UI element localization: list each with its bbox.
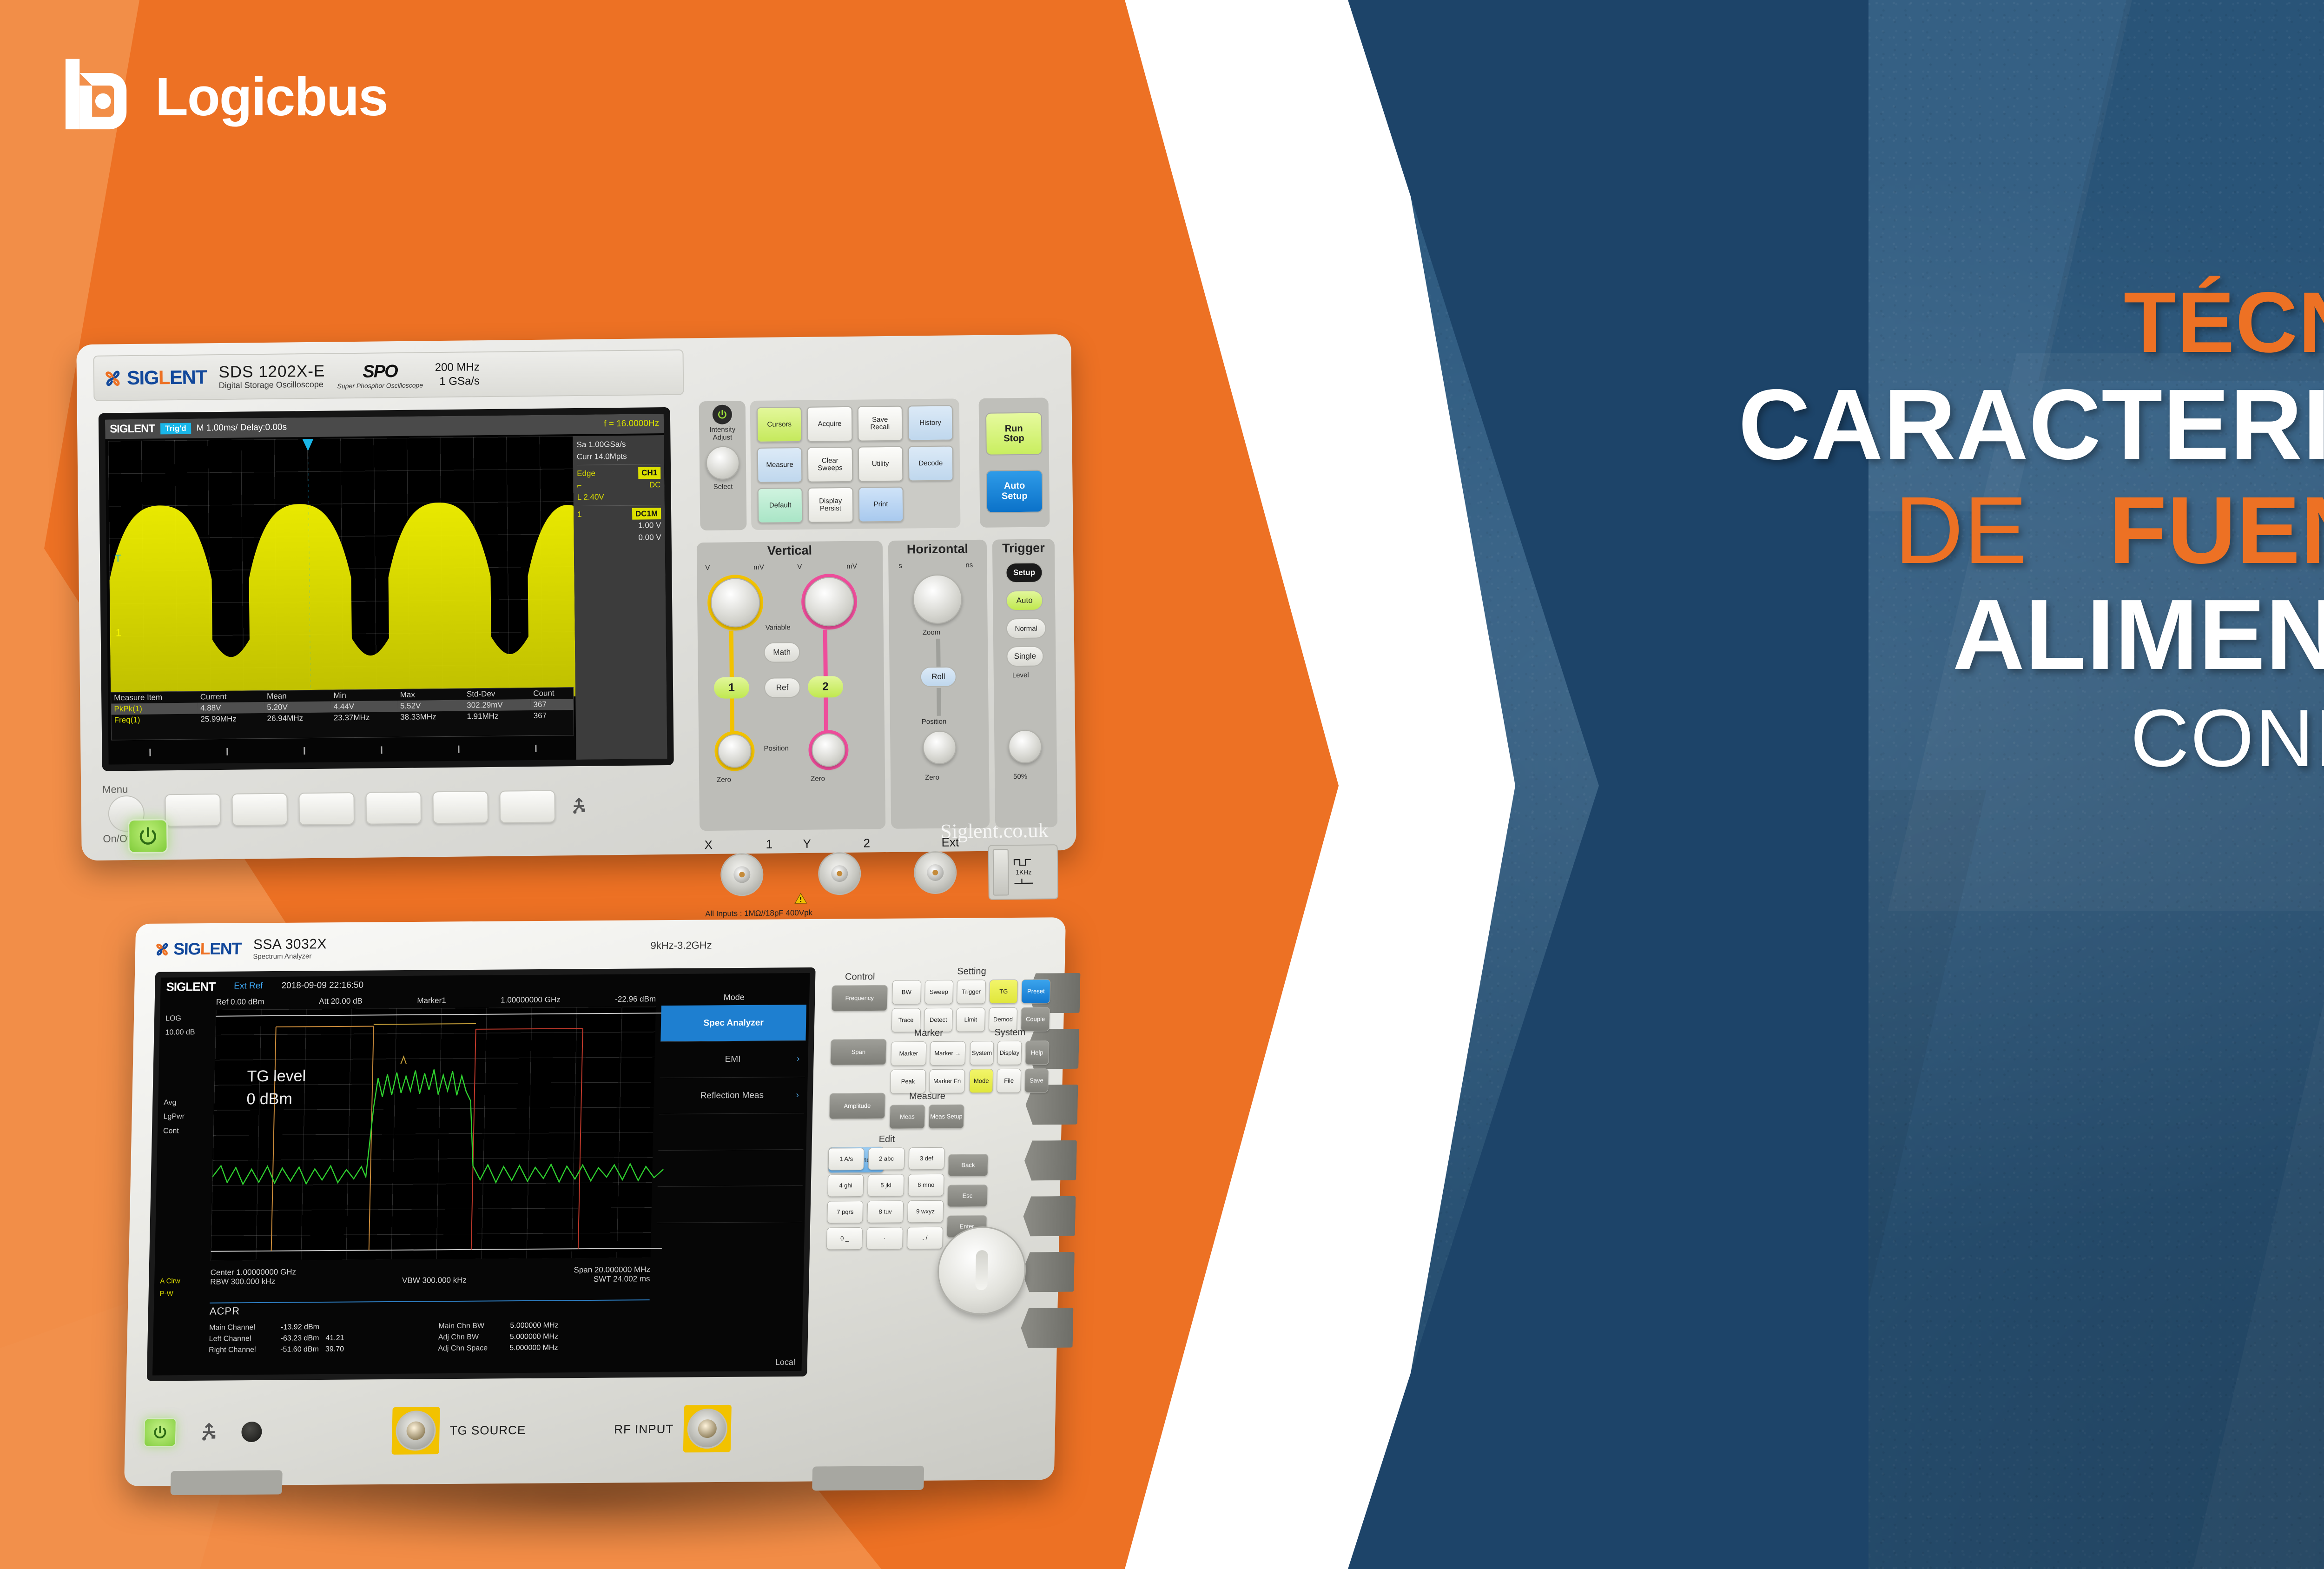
ssa-local-status: Local: [775, 1357, 795, 1367]
svg-text:T: T: [115, 552, 121, 564]
ssa-menu-item-5[interactable]: [658, 1150, 804, 1187]
input-label-x: X: [704, 838, 713, 852]
key-slash[interactable]: . /: [907, 1227, 943, 1250]
trigger-normal-button[interactable]: Normal: [1006, 618, 1046, 639]
scope-model-number: SDS 1202X-E: [218, 363, 325, 381]
key-9[interactable]: 9 wxyz: [907, 1200, 944, 1223]
ssa-menu-title: Mode: [661, 989, 807, 1006]
scope-measure-col-5: Std-Dev: [464, 688, 531, 700]
ssa-power-icon: [151, 1423, 169, 1441]
oscilloscope-device: SIGLENT SDS 1202X-E Digital Storage Osci…: [76, 334, 1076, 861]
softkey-button-6[interactable]: [499, 790, 555, 823]
ssa-screen-brand: SIGLENT: [166, 979, 215, 994]
ssa-ext-ref-status: Ext Ref: [234, 981, 263, 991]
ch1-scale-knob-ring: [707, 575, 764, 631]
chevron-right-icon: ›: [797, 1054, 800, 1064]
ssa-model-subtitle: Spectrum Analyzer: [253, 952, 326, 960]
cell-freq-current: 25.99MHz: [198, 713, 264, 725]
ssa-marker-freq: 1.00000000 GHz: [501, 995, 561, 1005]
trigger-section-title: Trigger: [992, 539, 1055, 556]
ssa-cont-label: Cont: [163, 1124, 212, 1138]
display-persist-button[interactable]: DisplayPersist: [808, 487, 853, 523]
scope-memory-depth-readout: Curr 14.0Mpts: [577, 450, 660, 463]
cell-pkpk-current: 4.88V: [198, 702, 264, 714]
scope-measure-col-6: Count: [530, 688, 573, 699]
ssa-power-button[interactable]: [144, 1418, 177, 1447]
rf-input-pad: [683, 1405, 732, 1453]
ssa-menu-item-emi[interactable]: EMI›: [660, 1041, 806, 1078]
cal-output-group[interactable]: 1KHz: [988, 844, 1058, 900]
key-4[interactable]: 4 ghi: [827, 1174, 864, 1197]
display-button[interactable]: Display: [997, 1041, 1022, 1065]
scope-softkey-ticks: [111, 739, 574, 761]
bnc-center-ch1: [733, 866, 750, 883]
intensity-indicator-icon: [713, 404, 732, 424]
scope-spo-subtitle: Super Phosphor Oscilloscope: [337, 381, 423, 390]
run-stop-button[interactable]: RunStop: [985, 412, 1043, 456]
scope-channel-offset: 0.00 V: [578, 531, 661, 544]
scope-bottom-button-row: Menu On/Off: [102, 777, 679, 839]
scope-model-block: SDS 1202X-E Digital Storage Oscilloscope: [218, 363, 325, 391]
intensity-adjust-knob[interactable]: [706, 446, 740, 480]
scope-waveform: 1 T: [108, 436, 575, 701]
scope-channel-number: 1: [577, 508, 582, 520]
scope-measure-col-0: Measure Item: [111, 692, 198, 704]
marker-button[interactable]: Marker: [891, 1041, 926, 1066]
scope-trigger-coupling: DC: [649, 479, 661, 491]
tg-source-connector[interactable]: [396, 1410, 436, 1451]
scope-trigger-source: CH1: [638, 467, 660, 479]
history-button[interactable]: History: [907, 405, 953, 441]
tg-source-pad: [392, 1407, 440, 1455]
acpr-adj-chn-space: Adj Chn Space5.000000 MHz: [438, 1343, 649, 1353]
roll-button[interactable]: Roll: [920, 666, 957, 687]
save-button[interactable]: Save: [1024, 1068, 1049, 1092]
ssa-marker-title: Marker: [891, 1028, 966, 1039]
acpr-main-chn-bw: Main Chn BW5.000000 MHz: [438, 1321, 649, 1331]
ch1-trace-line: [729, 630, 734, 682]
ssa-model-number: SSA 3032X: [253, 936, 327, 953]
cell-pkpk-mean: 5.20V: [264, 702, 331, 713]
save-recall-button[interactable]: SaveRecall: [857, 406, 903, 442]
ssa-marker-group: Marker Marker Marker → Peak Marker Fn: [890, 1028, 966, 1094]
cell-pkpk-min: 4.44V: [331, 701, 398, 712]
frequency-button[interactable]: Frequency: [832, 985, 888, 1012]
scope-utility-button-grid: Cursors Acquire SaveRecall History Measu…: [750, 398, 961, 530]
ssa-siglent-logo: SIGLENT: [154, 939, 241, 959]
scope-spo-label: SPO: [363, 362, 397, 382]
ssa-edit-group: Edit 1 A/s 2 abc 3 def 4 ghi 5 jkl 6 mno…: [826, 1134, 945, 1250]
ssa-edit-title: Edit: [829, 1134, 945, 1145]
vertical-section-title: Vertical: [697, 541, 883, 559]
title-block: TÉCNICAS DE CARACTERIZACIÓN DE FUENTES D…: [1490, 279, 2324, 895]
logicbus-logo[interactable]: Logicbus: [60, 56, 388, 137]
ssa-avg-label: Avg: [164, 1096, 212, 1110]
ssa-measure-title: Measure: [890, 1091, 965, 1102]
scope-screen-inner: SIGLENT Trig'd M 1.00ms/ Delay:0.00s f =…: [105, 414, 667, 765]
ssa-system-title: System: [971, 1027, 1050, 1038]
horizontal-position-knob[interactable]: [923, 730, 957, 764]
scope-channel-scale: 1.00 V: [577, 519, 661, 532]
acpr-adj-chn-bw: Adj Chn BW5.000000 MHz: [438, 1332, 649, 1342]
ssa-marker-label: Marker1: [417, 996, 446, 1005]
ssa-menu-item-6[interactable]: [657, 1186, 803, 1223]
title-line-2: CARACTERIZACIÓN: [1490, 373, 2324, 475]
acpr-main-channel: Main Channel-13.92 dBm: [209, 1323, 420, 1332]
ssa-freq-range: 9kHz-3.2GHz: [650, 939, 712, 952]
key-6[interactable]: 6 mno: [908, 1174, 944, 1197]
key-2[interactable]: 2 abc: [868, 1147, 905, 1170]
title-line-6: (SMPS): [1490, 783, 2324, 895]
key-1[interactable]: 1 A/s: [828, 1148, 865, 1171]
ch1-trace-line-2: [730, 698, 734, 734]
cell-freq-min: 23.37MHz: [331, 712, 398, 723]
acpr-right-channel: Right Channel-51.60 dBm39.70: [209, 1345, 420, 1355]
ch2-scale-knob-ring: [801, 574, 858, 630]
horizontal-section: Horizontal s ns Zoom Roll Position Zero: [888, 540, 990, 829]
rf-input-connector[interactable]: [687, 1409, 728, 1449]
ssa-tg-level-annotation: TG level 0 dBm: [246, 1065, 306, 1111]
ssa-foot-left: [171, 1470, 283, 1495]
cal-output-label: 1KHz: [1013, 857, 1034, 887]
ssa-trace-overlay: [211, 1006, 667, 1261]
cell-freq-max: 38.33MHz: [397, 711, 464, 723]
scope-measure-col-2: Mean: [264, 690, 331, 702]
trigger-section: Trigger Setup Auto Normal Single Level 5…: [992, 539, 1057, 828]
ch2-volts-div-knob[interactable]: [805, 577, 854, 627]
ref-button[interactable]: Ref: [764, 677, 800, 698]
trigger-setup-button[interactable]: Setup: [1005, 562, 1043, 583]
title-line-3-de: DE: [1895, 477, 2028, 583]
ssa-front-bottom: TG SOURCE RF INPUT: [143, 1382, 1028, 1476]
print-button[interactable]: Print: [858, 487, 904, 523]
tg-source-label: TG SOURCE: [449, 1423, 526, 1437]
auto-setup-button[interactable]: AutoSetup: [986, 470, 1043, 513]
scope-measure-col-4: Max: [397, 689, 464, 701]
tg-button[interactable]: TG: [989, 980, 1018, 1004]
ssa-readout-row: Ref 0.00 dBm Att 20.00 dB Marker1 1.0000…: [216, 994, 656, 1007]
scope-power-button[interactable]: [128, 819, 168, 854]
ssa-acpr-panel: ACPR Main Channel-13.92 dBm Main Chn BW5…: [209, 1299, 650, 1355]
preset-button[interactable]: Preset: [1022, 979, 1051, 1003]
ssa-soft-menu: Mode Spec Analyzer EMI› Reflection Meas›: [654, 989, 806, 1369]
scope-watermark: Siglent.co.uk: [940, 818, 1049, 843]
ch2-trace-line: [823, 629, 828, 681]
ssa-menu-item-4[interactable]: [658, 1113, 804, 1151]
scope-trigger-level: L 2.40V: [577, 490, 661, 503]
scope-samplerate: 1 GSa/s: [435, 374, 480, 389]
select-label: Select: [713, 483, 733, 491]
ssa-control-title: Control: [832, 972, 888, 983]
acpr-left-channel: Left Channel-63.23 dBm41.21: [209, 1334, 420, 1344]
bw-button[interactable]: BW: [892, 980, 921, 1004]
ssa-rf-input-group: RF INPUT: [614, 1405, 732, 1453]
cell-pkpk-count: 367: [530, 699, 573, 710]
ssa-system-group: System System Display Help Mode File Sav…: [969, 1027, 1050, 1093]
default-button[interactable]: Default: [758, 488, 803, 523]
trigger-button[interactable]: Trigger: [957, 980, 986, 1004]
decode-button[interactable]: Decode: [908, 445, 953, 481]
key-7[interactable]: 7 pqrs: [827, 1201, 863, 1224]
logicbus-mark-icon: [60, 56, 139, 137]
ssa-lgpwr-label: LgPwr: [163, 1110, 212, 1124]
math-button[interactable]: Math: [764, 642, 800, 663]
softkey-button-3[interactable]: [298, 792, 355, 825]
scope-spo-badge: SPO Super Phosphor Oscilloscope: [337, 361, 423, 390]
bnc-connector-ch1[interactable]: [720, 853, 764, 896]
ssa-vbw: VBW 300.000 kHz: [402, 1276, 467, 1285]
scope-side-readout: Sa 1.00GSa/s Curr 14.0Mpts EdgeCH1 ⌐DC L…: [573, 435, 667, 760]
scope-pinwheel-icon: [103, 368, 123, 388]
acquire-button[interactable]: Acquire: [807, 406, 852, 442]
meas-button[interactable]: Meas: [889, 1105, 925, 1129]
scope-input-connectors: X 1 Y 2 Ext All Inputs : 1MΩ//18pF 400Vp…: [700, 834, 1063, 926]
square-wave-icon: [1013, 857, 1034, 867]
cal-terminal-pads: [993, 849, 1009, 895]
ssa-ref-level: Ref 0.00 dBm: [216, 997, 264, 1007]
ssa-foot-right: [812, 1466, 924, 1491]
ssa-trace-state: A ClrwP-W: [159, 1275, 180, 1300]
ch1-position-knob[interactable]: [718, 734, 752, 768]
ssa-tg-line2: 0 dBm: [246, 1088, 306, 1111]
span-button[interactable]: Span: [830, 1039, 886, 1066]
bnc-center-ch2: [831, 865, 848, 882]
ch1-position-ring: [714, 731, 755, 771]
ch1-volts-div-knob[interactable]: [711, 578, 760, 628]
scope-screen-brand: SIGLENT: [110, 422, 155, 436]
cell-pkpk-name: PkPk(1): [111, 703, 198, 715]
bnc-center-ext: [927, 864, 944, 881]
logicbus-wordmark: Logicbus: [155, 70, 388, 124]
meas-setup-button[interactable]: Meas Setup: [928, 1105, 964, 1129]
cursors-button[interactable]: Cursors: [757, 407, 802, 443]
vertical-section: Vertical V mV V mV Variable Math 1 2 Ref: [697, 541, 885, 831]
scope-spec-block: 200 MHz 1 GSa/s: [435, 360, 480, 389]
scope-frequency-readout: f = 16.0000Hz: [604, 418, 659, 429]
spectrum-analyzer-device: SIGLENT SSA 3032X Spectrum Analyzer 9kHz…: [124, 917, 1066, 1486]
key-3[interactable]: 3 def: [908, 1147, 944, 1170]
input-label-y: Y: [803, 837, 811, 851]
scope-channel-coupling: DC1M: [632, 508, 661, 520]
intensity-adjust-group: IntensityAdjust Select: [699, 401, 747, 530]
input-label-ch1: 1: [766, 837, 772, 852]
scope-model-subtitle: Digital Storage Oscilloscope: [219, 380, 325, 391]
ssa-model-block: SSA 3032X Spectrum Analyzer: [253, 936, 327, 960]
ch2-position-ring: [808, 730, 849, 770]
marker-fn-button[interactable]: Marker Fn: [929, 1069, 965, 1094]
ssa-menu-item-reflection-meas[interactable]: Reflection Meas›: [659, 1077, 805, 1114]
ssa-siglent-wordmark: SIGLENT: [173, 939, 241, 959]
input-spec-note: All Inputs : 1MΩ//18pF 400Vpk: [705, 908, 812, 919]
ssa-setting-group: Setting BW Sweep Trigger TG Preset Trace…: [891, 966, 1051, 1032]
ssa-tg-line1: TG level: [247, 1065, 306, 1088]
ssa-span: Span 20.000000 MHz: [574, 1265, 650, 1275]
back-button[interactable]: Back: [948, 1154, 988, 1177]
ssa-rbw: RBW 300.000 kHz: [210, 1277, 275, 1287]
ssa-attenuation: Att 20.00 dB: [319, 997, 363, 1006]
scope-screen-topbar: SIGLENT Trig'd M 1.00ms/ Delay:0.00s f =…: [105, 414, 664, 439]
softkey-button-4[interactable]: [365, 792, 422, 825]
scope-measurement-table: Measure Item Current Mean Min Max Std-De…: [111, 687, 574, 740]
cell-freq-mean: 26.94MHz: [264, 713, 331, 724]
ssa-rotary-knob[interactable]: [937, 1226, 1027, 1315]
bnc-connector-ch2[interactable]: [818, 852, 861, 895]
trigger-level-knob[interactable]: [1008, 730, 1042, 764]
horizontal-link-line-2: [937, 688, 941, 716]
horizontal-section-title: Horizontal: [888, 540, 987, 557]
esc-button[interactable]: Esc: [947, 1185, 988, 1207]
mode-button[interactable]: Mode: [969, 1069, 993, 1093]
oscilloscope-screen[interactable]: SIGLENT Trig'd M 1.00ms/ Delay:0.00s f =…: [99, 407, 674, 771]
cell-pkpk-std: 302.29mV: [464, 699, 531, 711]
key-dot[interactable]: ·: [866, 1227, 903, 1250]
cell-freq-count: 367: [531, 710, 574, 722]
ssa-keypad-panel: Control Frequency Span Amplitude Auto Tu…: [824, 966, 1051, 1385]
tg-source-center: [406, 1421, 425, 1440]
title-line-3: DE FUENTES DE: [1490, 482, 2324, 579]
ch2-button[interactable]: 2: [808, 676, 843, 698]
title-line-1: TÉCNICAS DE: [1490, 279, 2324, 367]
timebase-knob[interactable]: [913, 574, 963, 624]
scope-sample-rate-readout: Sa 1.00GSa/s: [576, 438, 660, 450]
ch2-trace-line-2: [824, 697, 828, 733]
ground-icon: [1013, 876, 1034, 886]
help-button[interactable]: Help: [1025, 1040, 1049, 1065]
softkey-button-5[interactable]: [432, 791, 489, 824]
intensity-adjust-label: IntensityAdjust: [709, 426, 735, 442]
ssa-datetime: 2018-09-09 22:16:50: [281, 980, 363, 991]
ssa-center-freq: Center 1.00000000 GHz: [210, 1267, 296, 1277]
file-button[interactable]: File: [997, 1069, 1021, 1093]
ssa-y-axis-labels: LOG 10.00 dB Avg LgPwr Cont: [163, 1012, 214, 1139]
title-line-5: CONMUTADAS: [1490, 697, 2324, 781]
key-0[interactable]: 0 _: [826, 1227, 863, 1250]
title-line-3-big: FUENTES DE: [2109, 477, 2324, 583]
bnc-connector-ext[interactable]: [914, 851, 957, 894]
scope-trigger-type: Edge: [577, 468, 595, 480]
scope-timebase-readout: M 1.00ms/ Delay:0.00s: [197, 423, 287, 434]
ssa-marker-level: -22.96 dBm: [615, 994, 656, 1004]
ssa-parameter-row: Center 1.00000000 GHz Span 20.000000 MHz…: [210, 1265, 650, 1287]
ssa-scale-mode: LOG: [165, 1012, 214, 1026]
ssa-menu-item-spec-analyzer[interactable]: Spec Analyzer: [660, 1005, 806, 1042]
system-button[interactable]: System: [970, 1041, 994, 1065]
ssa-db-per-div: 10.00 dB: [165, 1026, 214, 1040]
trigger-auto-button[interactable]: Auto: [1006, 590, 1043, 611]
ssa-measure-group: Measure Meas Meas Setup: [889, 1091, 964, 1129]
scope-control-panel: IntensityAdjust Select Cursors Acquire S…: [695, 353, 1058, 835]
ssa-usb-icon: [195, 1418, 223, 1446]
ch2-position-knob[interactable]: [812, 733, 845, 767]
trigger-single-button[interactable]: Single: [1006, 646, 1043, 667]
ssa-headphone-jack[interactable]: [241, 1422, 262, 1442]
scope-measure-col-1: Current: [198, 691, 264, 702]
rf-input-center: [698, 1419, 717, 1438]
ssa-setting-title: Setting: [892, 966, 1051, 977]
ch1-button[interactable]: 1: [714, 677, 749, 699]
promo-banner: Logicbus TÉCNICAS DE CARACTERIZACIÓN DE …: [0, 0, 2324, 1569]
key-8[interactable]: 8 tuv: [867, 1200, 903, 1223]
cell-pkpk-max: 5.52V: [397, 700, 464, 712]
ssa-acpr-title: ACPR: [210, 1302, 650, 1317]
scope-bandwidth: 200 MHz: [435, 360, 480, 375]
oscilloscope-brand-strip: SIGLENT SDS 1202X-E Digital Storage Osci…: [93, 350, 684, 401]
marker-to-button[interactable]: Marker →: [930, 1041, 965, 1066]
measure-button[interactable]: Measure: [757, 447, 803, 483]
utility-button[interactable]: Utility: [858, 446, 903, 482]
ssa-pinwheel-icon: [154, 941, 171, 958]
power-icon: [137, 825, 158, 847]
usb-icon: [566, 794, 592, 819]
cell-freq-std: 1.91MHz: [464, 710, 531, 722]
scope-siglent-wordmark: SIGLENT: [127, 366, 207, 389]
menu-label-top: Menu: [102, 783, 128, 796]
clear-sweeps-button[interactable]: ClearSweeps: [807, 447, 853, 483]
sweep-button[interactable]: Sweep: [924, 980, 954, 1004]
scope-runstop-group: RunStop AutoSetup: [979, 397, 1050, 528]
ssa-brand-strip: SIGLENT SSA 3032X Spectrum Analyzer 9kHz…: [153, 928, 852, 965]
warning-triangle-icon: [793, 892, 808, 906]
ssa-swt: SWT 24.002 ms: [594, 1274, 650, 1284]
scope-siglent-logo: SIGLENT: [103, 366, 207, 389]
chevron-right-icon-2: ›: [796, 1090, 799, 1100]
ssa-tg-source-group: TG SOURCE: [392, 1406, 527, 1455]
softkey-button-1[interactable]: [165, 794, 221, 827]
rf-input-label: RF INPUT: [614, 1422, 674, 1437]
cell-freq-name: Freq(1): [112, 714, 198, 726]
key-5[interactable]: 5 jkl: [868, 1174, 904, 1197]
input-label-ch2: 2: [863, 836, 870, 850]
amplitude-button[interactable]: Amplitude: [829, 1093, 885, 1119]
scope-measure-col-3: Min: [330, 689, 397, 701]
svg-text:1: 1: [116, 627, 122, 638]
title-line-4: ALIMENTACIÓN: [1490, 583, 2324, 685]
scope-trigger-status-badge: Trig'd: [160, 423, 191, 435]
ssa-screen[interactable]: SIGLENT Ext Ref 2018-09-09 22:16:50 Ref …: [147, 967, 816, 1381]
softkey-button-2[interactable]: [231, 793, 288, 826]
peak-button[interactable]: Peak: [890, 1069, 926, 1094]
